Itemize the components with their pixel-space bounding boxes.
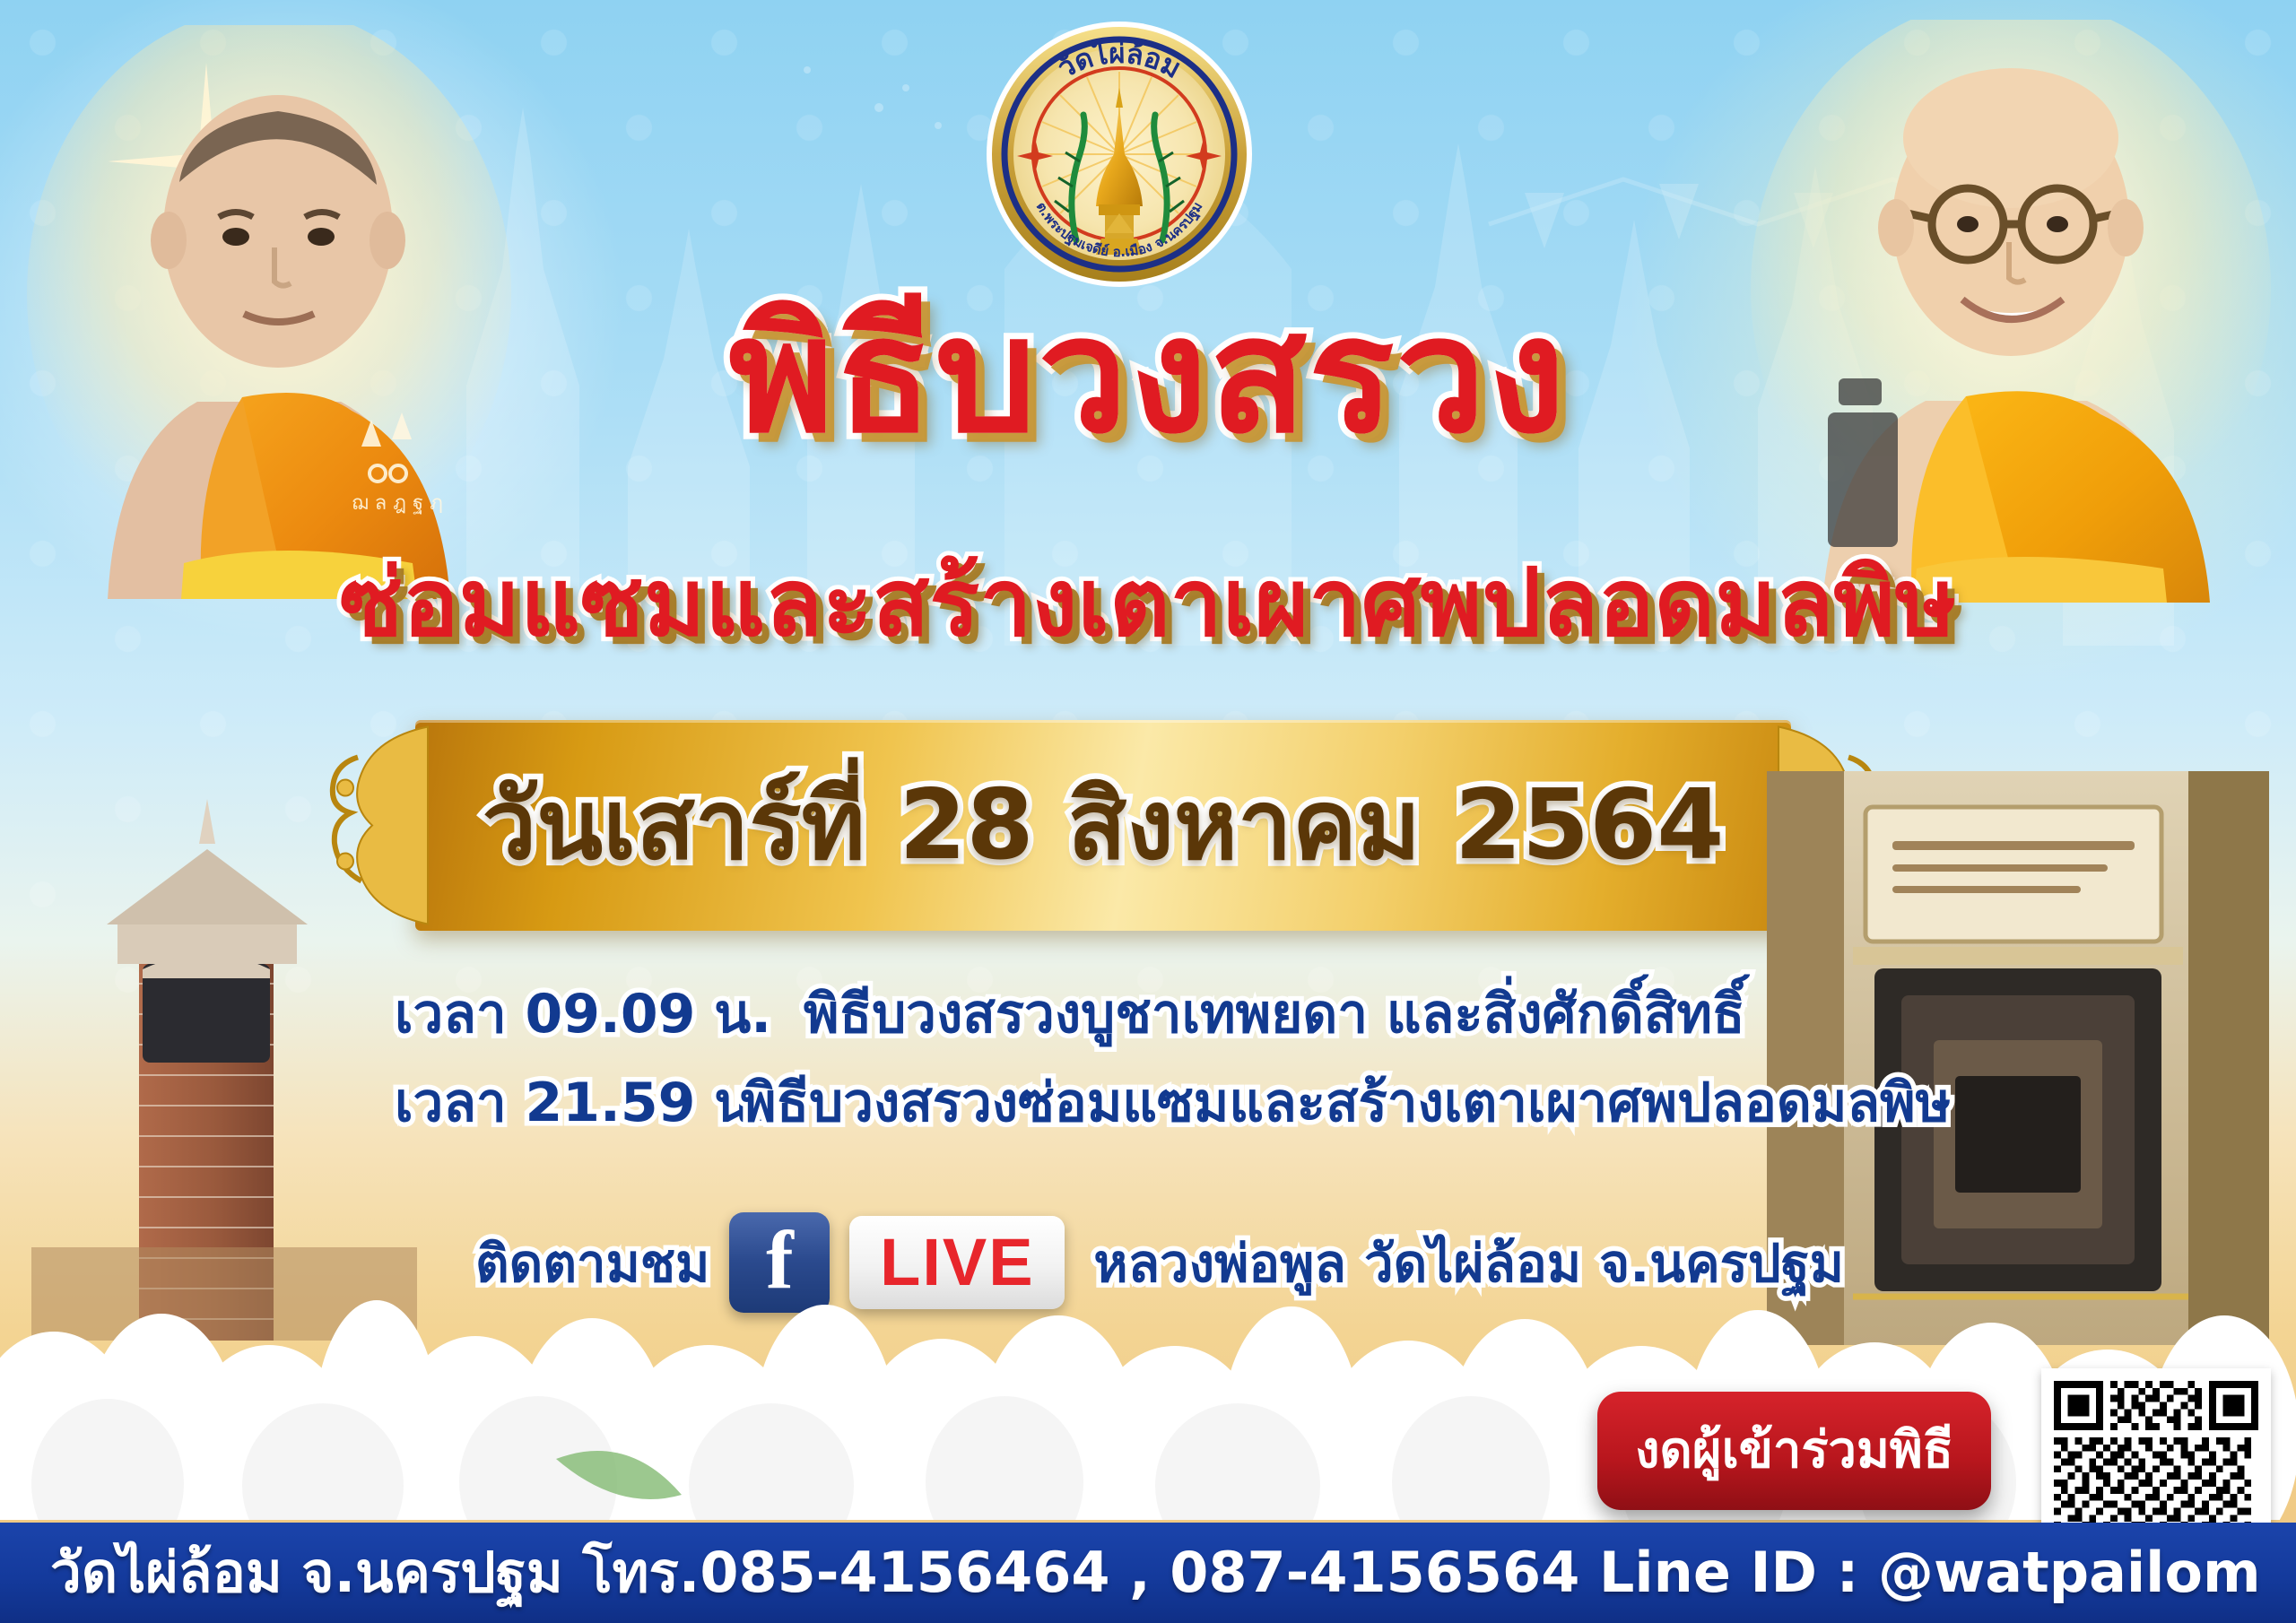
schedule-detail: พิธีบวงสรวงซ่อมแซมและสร้างเตาเผาศพปลอดมล…	[741, 1071, 1951, 1136]
facebook-icon[interactable]: f	[729, 1212, 830, 1313]
schedule-row: เวลา 09.09 น. พิธีบวงสรวงบูชาเทพยดา และส…	[395, 982, 1910, 1047]
ceremony-schedule: เวลา 09.09 น. พิธีบวงสรวงบูชาเทพยดา และส…	[395, 982, 1910, 1159]
live-channel-name: หลวงพ่อพูล วัดไผ่ล้อม จ.นครปฐม	[1093, 1221, 1844, 1305]
live-label: LIVE	[880, 1229, 1034, 1296]
poster-subheadline: ซ่อมแซมและสร้างเตาเผาศพปลอดมลพิษ	[0, 556, 2296, 649]
no-attendees-notice-badge: งดผู้เข้าร่วมพิธี	[1597, 1392, 1991, 1510]
temple-seal-logo: วัดไผ่ล้อม ต.พระปฐมเจดีย์ อ.เมือง จ.นครป…	[976, 20, 1263, 289]
live-badge[interactable]: LIVE	[849, 1216, 1065, 1309]
date-banner-text: วันเสาร์ที่ 28 สิงหาคม 2564	[336, 777, 1870, 874]
schedule-row: เวลา 21.59 น. พิธีบวงสรวงซ่อมแซมและสร้าง…	[395, 1071, 1910, 1136]
footer-contact-text: วัดไผ่ล้อม จ.นครปฐม โทร.085-4156464 , 08…	[0, 1545, 2261, 1601]
event-poster: ฌ ล ฎ ฐ ฦ	[0, 0, 2296, 1623]
facebook-live-row: ติดตามชม f LIVE หลวงพ่อพูล วัดไผ่ล้อม จ.…	[475, 1212, 1844, 1313]
schedule-time: เวลา 09.09 น.	[395, 982, 771, 1047]
follow-label: ติดตามชม	[475, 1221, 709, 1305]
schedule-time: เวลา 21.59 น.	[395, 1071, 709, 1136]
schedule-detail: พิธีบวงสรวงบูชาเทพยดา และสิ่งศักดิ์สิทธิ…	[804, 982, 1745, 1047]
svg-text:ฌ ล ฎ ฐ ฦ: ฌ ล ฎ ฐ ฦ	[352, 492, 443, 515]
poster-headline: พิธีบวงสรวง	[0, 296, 2296, 456]
facebook-f-glyph: f	[766, 1219, 794, 1301]
crematorium-photo-left	[31, 749, 417, 1341]
date-banner: วันเสาร์ที่ 28 สิงหาคม 2564	[336, 711, 1870, 940]
notice-label: งดผู้เข้าร่วมพิธี	[1635, 1426, 1953, 1476]
contact-footer-bar: วัดไผ่ล้อม จ.นครปฐม โทร.085-4156464 , 08…	[0, 1523, 2296, 1623]
